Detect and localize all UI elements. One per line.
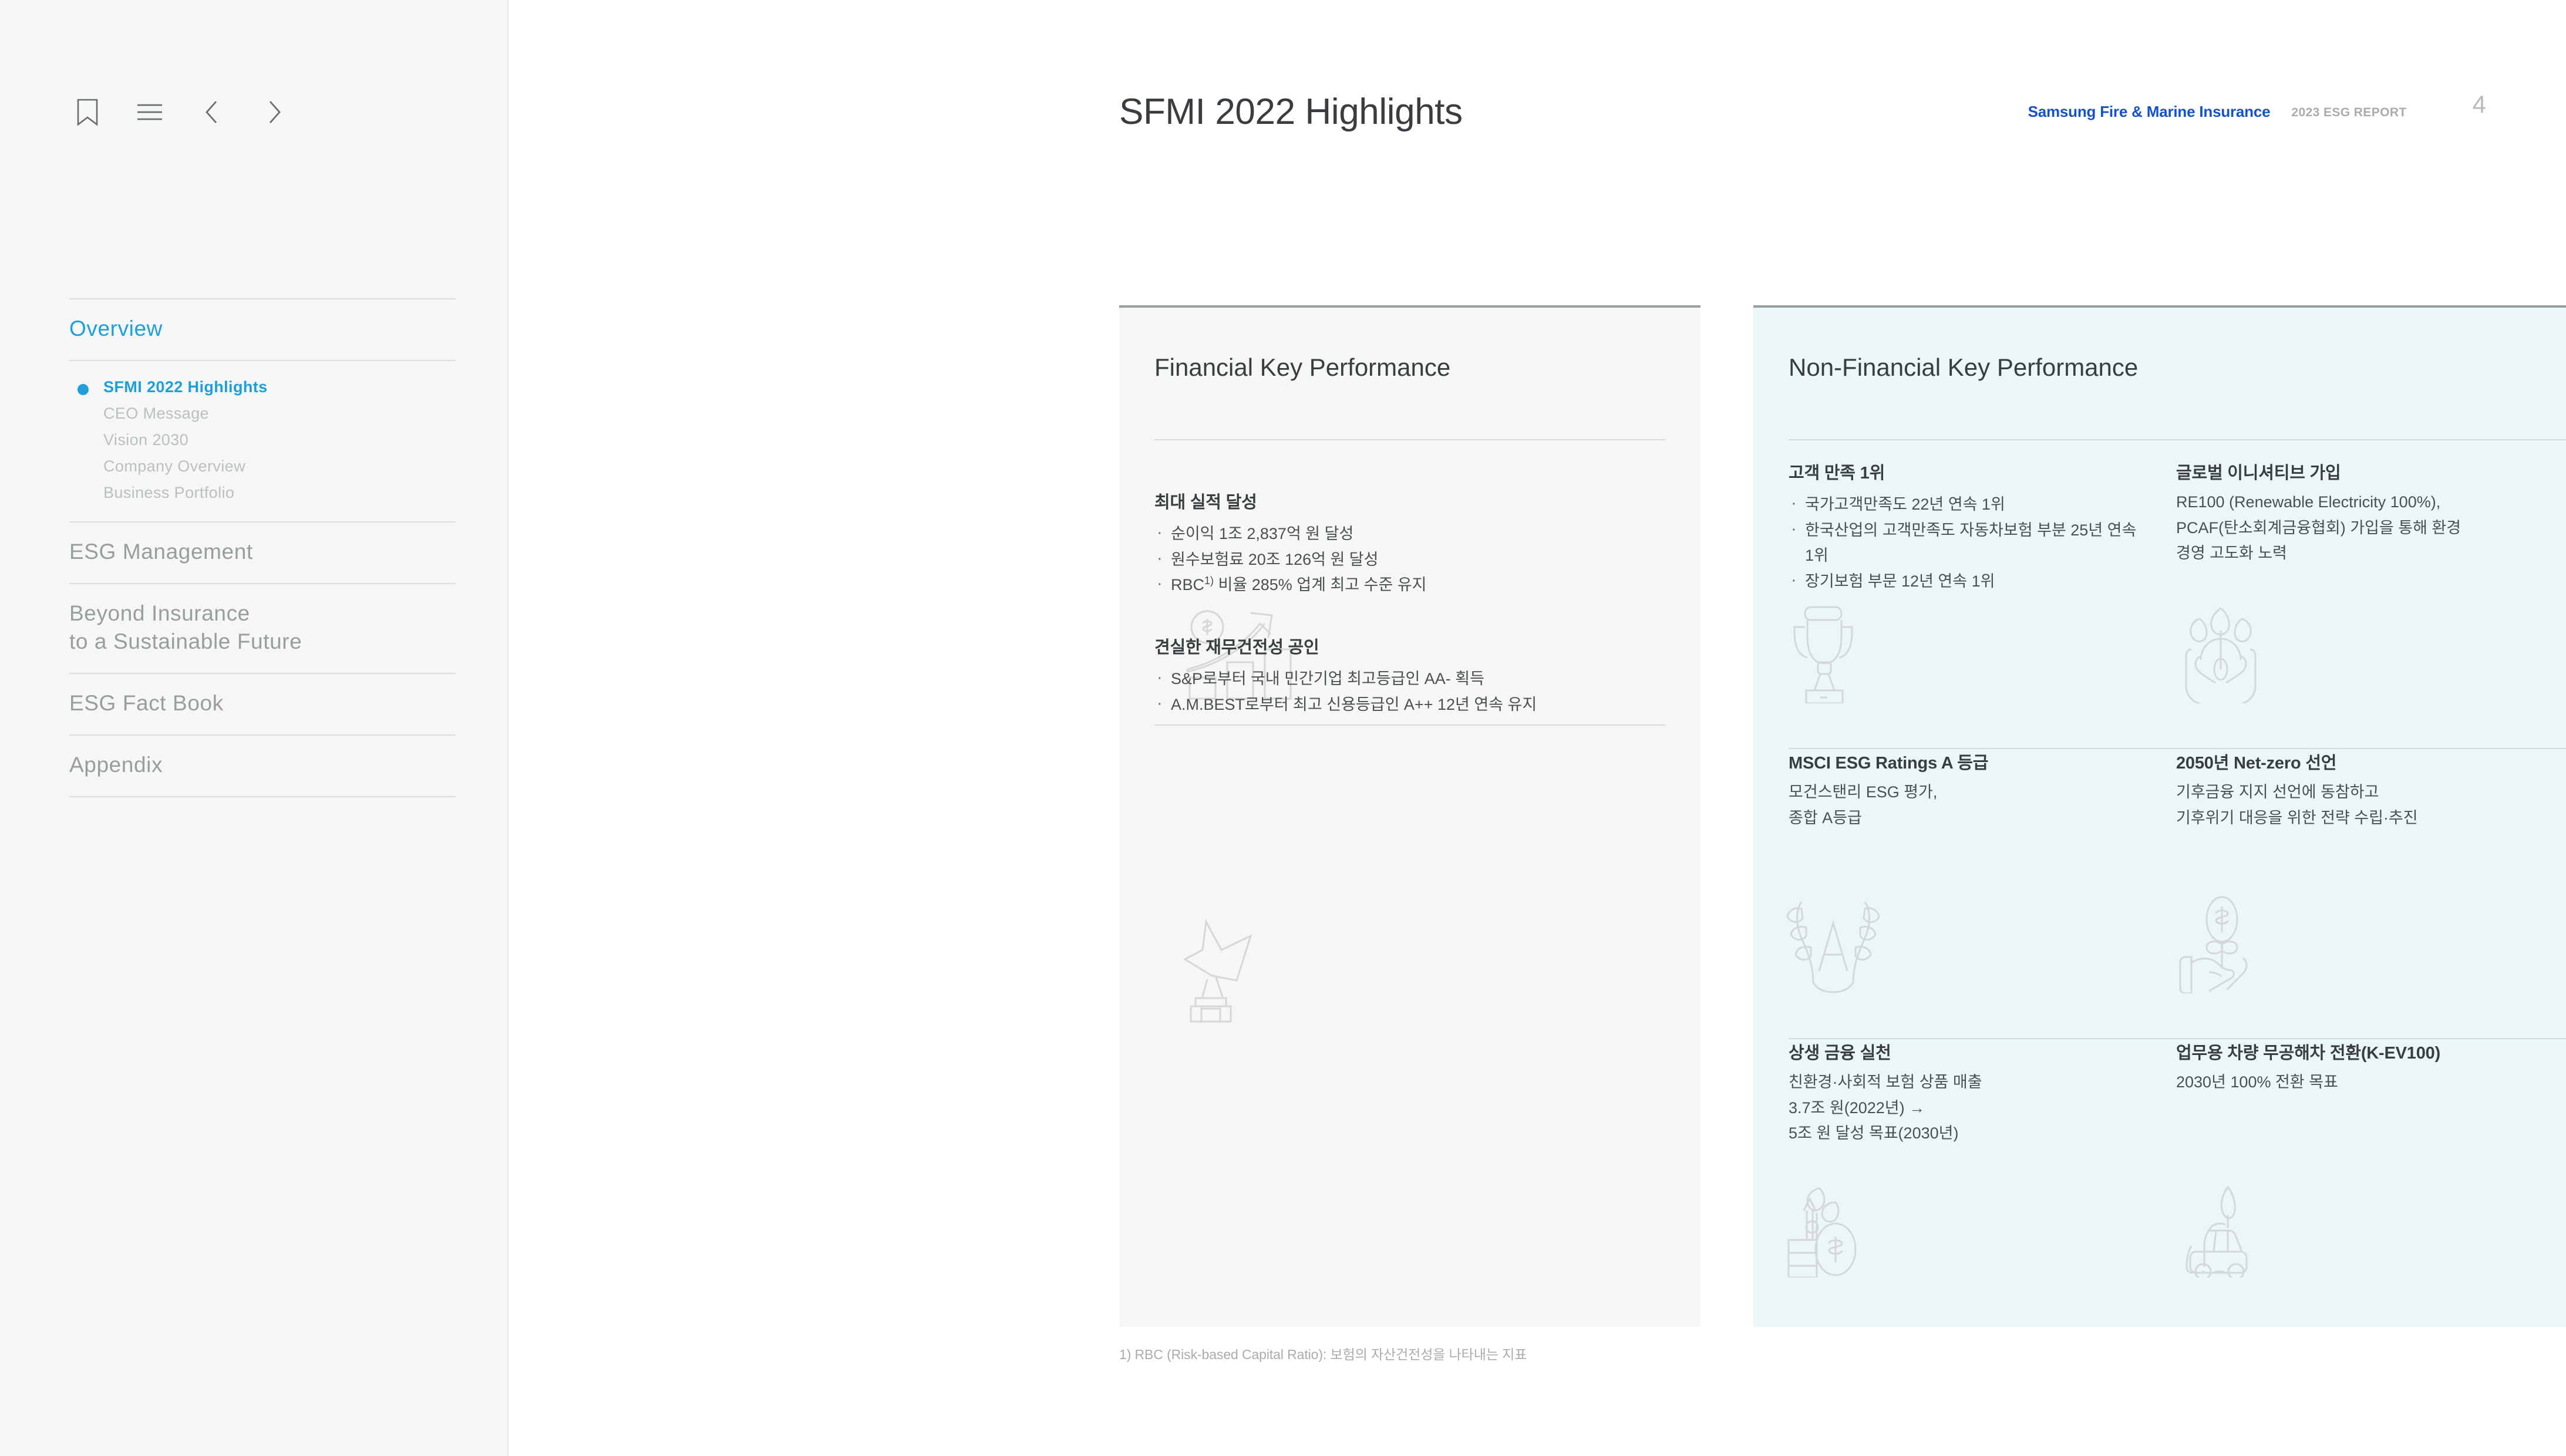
list-item: 장기보험 부문 12년 연속 1위	[1789, 569, 2141, 595]
panel-title: Non-Financial Key Performance	[1753, 308, 2566, 382]
sidebar-item-ceo-message[interactable]: CEO Message	[69, 400, 456, 427]
list-item: S&P로부터 국내 민간기업 최고등급인 AA- 획득	[1154, 666, 1665, 692]
non-financial-key-performance-panel: Non-Financial Key Performance 고객 만족 1위 국…	[1753, 305, 2566, 1327]
report-page: Overview SFMI 2022 Highlights CEO Messag…	[0, 0, 2566, 1456]
cell-line: 기후금융 지지 선언에 동참하고	[2176, 780, 2552, 805]
sidebar-toolbar	[0, 0, 507, 130]
list-item: 순이익 1조 2,837억 원 달성	[1154, 521, 1665, 547]
sidebar: Overview SFMI 2022 Highlights CEO Messag…	[0, 0, 509, 1456]
money-plant-coins-icon	[1786, 1184, 1883, 1278]
cell-line: PCAF(탄소회계금융협회) 가입을 통해 환경	[2176, 515, 2552, 541]
block-heading: 견실한 재무건전성 공인	[1154, 633, 1665, 658]
cell-heading: 글로벌 이니셔티브 가입	[2176, 459, 2552, 484]
panel-title-divider	[1154, 439, 1665, 440]
cell-line: RE100 (Renewable Electricity 100%),	[2176, 490, 2552, 515]
non-financial-row: MSCI ESG Ratings A 등급 모건스탠리 ESG 평가, 종합 A…	[1753, 749, 2566, 1039]
trophy-icon	[1786, 604, 1863, 703]
non-financial-cell: ISO 14001 / ISO 50001 업계 최초 국제 인증 동시 보유	[2552, 459, 2566, 595]
cell-line: 친환경·사회적 보험 상품 매출	[1789, 1070, 2141, 1096]
sidebar-item-esg-fact-book[interactable]: ESG Fact Book	[69, 674, 456, 734]
non-financial-row: 고객 만족 1위 국가고객만족도 22년 연속 1위 한국산업의 고객만족도 자…	[1753, 459, 2566, 749]
cell-line: 종합 A등급	[1789, 805, 2141, 831]
cell-heading: 2050년 Net-zero 선언	[2176, 749, 2552, 774]
sidebar-item-overview[interactable]: Overview	[69, 299, 456, 360]
sidebar-item-esg-management[interactable]: ESG Management	[69, 523, 456, 583]
laurel-a-icon	[1786, 894, 1880, 993]
list-item: RBC1) 비율 285% 업계 최고 수준 유지	[1154, 572, 1665, 598]
non-financial-cell: 상생 금융 실천 친환경·사회적 보험 상품 매출 3.7조 원(2022년) …	[1753, 1039, 2141, 1147]
block-bullets: 순이익 1조 2,837억 원 달성 원수보험료 20조 126억 원 달성 R…	[1154, 521, 1665, 598]
report-label: 2023 ESG REPORT	[2291, 102, 2406, 119]
non-financial-cell: 페이퍼리스(Paperless) 업무 체계 확대 90% 이상 '종이 없는 …	[2552, 1039, 2566, 1147]
list-item: 한국산업의 고객만족도 자동차보험 부분 25년 연속 1위	[1789, 518, 2141, 569]
financial-divider	[1154, 724, 1665, 726]
cell-line: 2030년 100% 전환 목표	[2176, 1070, 2552, 1096]
sidebar-subitems-overview: SFMI 2022 Highlights CEO Message Vision …	[69, 361, 456, 521]
sidebar-item-label: Company Overview	[103, 457, 245, 475]
cell-line: 경영 고도화 노력	[2176, 541, 2552, 567]
cell-heading: MSCI ESG Ratings A 등급	[1789, 749, 2141, 774]
financial-block: 최대 실적 달성 순이익 1조 2,837억 원 달성 원수보험료 20조 12…	[1119, 488, 1700, 598]
cell-heading: 업무용 차량 무공해차 전환(K-EV100)	[2176, 1039, 2552, 1064]
block-heading: 최대 실적 달성	[1154, 488, 1665, 513]
bookmark-icon[interactable]	[69, 94, 106, 130]
sidebar-item-company-overview[interactable]: Company Overview	[69, 453, 456, 480]
sidebar-item-sfmi-2022-highlights[interactable]: SFMI 2022 Highlights	[69, 374, 456, 400]
list-item: 국가고객만족도 22년 연속 1위	[1789, 492, 2141, 518]
non-financial-cell: 글로벌 이니셔티브 가입 RE100 (Renewable Electricit…	[2141, 459, 2552, 595]
cell-line: 5조 원 달성 목표(2030년)	[1789, 1121, 2141, 1147]
sidebar-item-label: SFMI 2022 Highlights	[103, 378, 268, 396]
sidebar-item-label: CEO Message	[103, 405, 209, 422]
sidebar-item-business-portfolio[interactable]: Business Portfolio	[69, 480, 456, 506]
financial-key-performance-panel: Financial Key Performance 최대 실적 달성 순이익 1…	[1119, 305, 1700, 1327]
star-trophy-icon	[1178, 917, 1272, 1023]
cell-heading: 상생 금융 실천	[1789, 1039, 2141, 1064]
panels-container: Financial Key Performance 최대 실적 달성 순이익 1…	[1119, 305, 2566, 1327]
page-number: 4	[2473, 92, 2486, 117]
non-financial-cell: 2050년 Net-zero 선언 기후금융 지지 선언에 동참하고 기후위기 …	[2141, 749, 2552, 857]
nav-divider	[69, 796, 456, 797]
non-financial-cell: 고객 만족 1위 국가고객만족도 22년 연속 1위 한국산업의 고객만족도 자…	[1753, 459, 2141, 595]
non-financial-grid: 고객 만족 1위 국가고객만족도 22년 연속 1위 한국산업의 고객만족도 자…	[1753, 459, 2566, 1315]
cell-line: 기후위기 대응을 위한 전략 수립·추진	[2176, 805, 2552, 831]
header-meta: Samsung Fire & Marine Insurance 2023 ESG…	[2028, 102, 2486, 119]
sidebar-nav: Overview SFMI 2022 Highlights CEO Messag…	[69, 298, 456, 797]
main-content: SFMI 2022 Highlights Samsung Fire & Mari…	[509, 0, 2566, 1456]
list-item: A.M.BEST로부터 최고 신용등급인 A++ 12년 연속 유지	[1154, 692, 1665, 718]
non-financial-cell: 업무용 차량 무공해차 전환(K-EV100) 2030년 100% 전환 목표	[2141, 1039, 2552, 1147]
cell-line: 3.7조 원(2022년) →	[1789, 1096, 2141, 1121]
footnote: 1) RBC (Risk-based Capital Ratio): 보험의 자…	[1119, 1343, 1527, 1363]
panel-title: Financial Key Performance	[1119, 308, 1700, 382]
page-title: SFMI 2022 Highlights	[1119, 91, 1463, 133]
non-financial-cell: ESG 투자 확대 ESG 누적 투자 약정 규모 7.65조 원(2022년)…	[2552, 749, 2566, 857]
sidebar-item-label: Vision 2030	[103, 431, 188, 449]
list-item: 원수보험료 20조 126억 원 달성	[1154, 547, 1665, 573]
cell-bullets: 국가고객만족도 22년 연속 1위 한국산업의 고객만족도 자동차보험 부분 2…	[1789, 492, 2141, 595]
non-financial-cell: MSCI ESG Ratings A 등급 모건스탠리 ESG 평가, 종합 A…	[1753, 749, 2141, 857]
cell-heading: 고객 만족 1위	[1789, 459, 2141, 484]
hand-money-plant-icon	[2174, 894, 2268, 993]
chevron-left-icon[interactable]	[194, 94, 230, 130]
financial-block: 견실한 재무건전성 공인 S&P로부터 국내 민간기업 최고등급인 AA- 획득…	[1119, 633, 1700, 717]
sidebar-item-vision-2030[interactable]: Vision 2030	[69, 427, 456, 453]
sidebar-item-appendix[interactable]: Appendix	[69, 736, 456, 796]
sidebar-item-beyond-insurance[interactable]: Beyond Insurance to a Sustainable Future	[69, 584, 456, 673]
chevron-right-icon[interactable]	[256, 94, 292, 130]
active-dot-icon	[78, 384, 89, 395]
hands-plant-icon	[2174, 604, 2268, 703]
eco-car-icon	[2174, 1184, 2277, 1278]
block-bullets: S&P로부터 국내 민간기업 최고등급인 AA- 획득 A.M.BEST로부터 …	[1154, 666, 1665, 717]
panel-title-divider	[1789, 439, 2566, 440]
menu-icon[interactable]	[132, 94, 168, 130]
non-financial-row: 상생 금융 실천 친환경·사회적 보험 상품 매출 3.7조 원(2022년) …	[1753, 1039, 2566, 1315]
sidebar-item-label: Business Portfolio	[103, 484, 234, 501]
cell-line: 모건스탠리 ESG 평가,	[1789, 780, 2141, 805]
brand-name: Samsung Fire & Marine Insurance	[2028, 102, 2271, 119]
